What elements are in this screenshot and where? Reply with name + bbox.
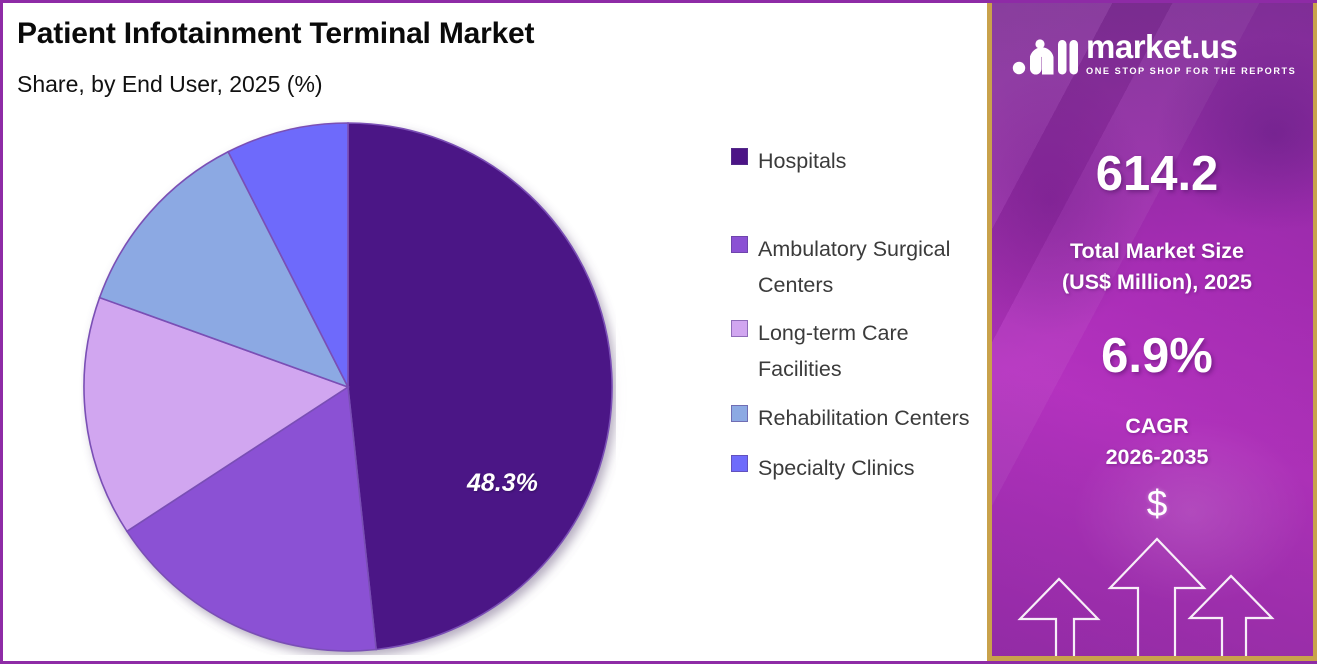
market-size-value: 614.2	[992, 146, 1317, 202]
legend-swatch-long-term-care-facilities	[731, 320, 748, 337]
cagr-label-line2: 2026-2035	[992, 442, 1317, 473]
legend-label-rehabilitation-centers: Rehabilitation Centers	[758, 400, 970, 436]
chart-legend: Hospitals Ambulatory Surgical Centers Lo…	[731, 143, 981, 508]
three-up-arrows-icon	[1014, 471, 1300, 661]
legend-swatch-hospitals	[731, 148, 748, 165]
brand-logo[interactable]: market.us ONE STOP SHOP FOR THE REPORTS	[1012, 23, 1302, 83]
legend-item-ambulatory-surgical-centers[interactable]: Ambulatory Surgical Centers	[731, 231, 981, 303]
cagr-label-line1: CAGR	[992, 411, 1317, 442]
legend-label-hospitals: Hospitals	[758, 143, 846, 179]
page-subtitle: Share, by End User, 2025 (%)	[17, 71, 323, 98]
infographic-canvas: Patient Infotainment Terminal Market Sha…	[0, 0, 1317, 664]
cagr-label: CAGR 2026-2035	[992, 411, 1317, 472]
market-size-label: Total Market Size (US$ Million), 2025	[992, 236, 1317, 297]
legend-item-long-term-care-facilities[interactable]: Long-term Care Facilities	[731, 315, 981, 387]
pie-slice-label-hospitals: 48.3%	[467, 469, 538, 498]
chart-panel: Patient Infotainment Terminal Market Sha…	[3, 3, 987, 661]
market-size-label-line2: (US$ Million), 2025	[992, 267, 1317, 298]
legend-swatch-rehabilitation-centers	[731, 405, 748, 422]
market-us-logo-icon	[1012, 30, 1078, 76]
legend-swatch-ambulatory-surgical-centers	[731, 236, 748, 253]
pie-chart-svg	[81, 120, 616, 655]
cagr-value: 6.9%	[992, 328, 1317, 384]
legend-label-specialty-clinics: Specialty Clinics	[758, 450, 915, 486]
stats-sidebar: market.us ONE STOP SHOP FOR THE REPORTS …	[987, 3, 1317, 661]
legend-item-specialty-clinics[interactable]: Specialty Clinics	[731, 450, 981, 486]
logo-tagline: ONE STOP SHOP FOR THE REPORTS	[1086, 66, 1296, 76]
legend-item-hospitals[interactable]: Hospitals	[731, 143, 981, 179]
logo-name: market.us	[1086, 30, 1296, 63]
legend-item-rehabilitation-centers[interactable]: Rehabilitation Centers	[731, 400, 981, 436]
legend-label-long-term-care-facilities: Long-term Care Facilities	[758, 315, 981, 387]
pie-chart: 48.3%	[81, 120, 616, 655]
page-title: Patient Infotainment Terminal Market	[17, 17, 534, 51]
pie-slice-hospitals[interactable]	[348, 123, 612, 650]
legend-label-ambulatory-surgical-centers: Ambulatory Surgical Centers	[758, 231, 981, 303]
legend-swatch-specialty-clinics	[731, 455, 748, 472]
market-size-label-line1: Total Market Size	[992, 236, 1317, 267]
